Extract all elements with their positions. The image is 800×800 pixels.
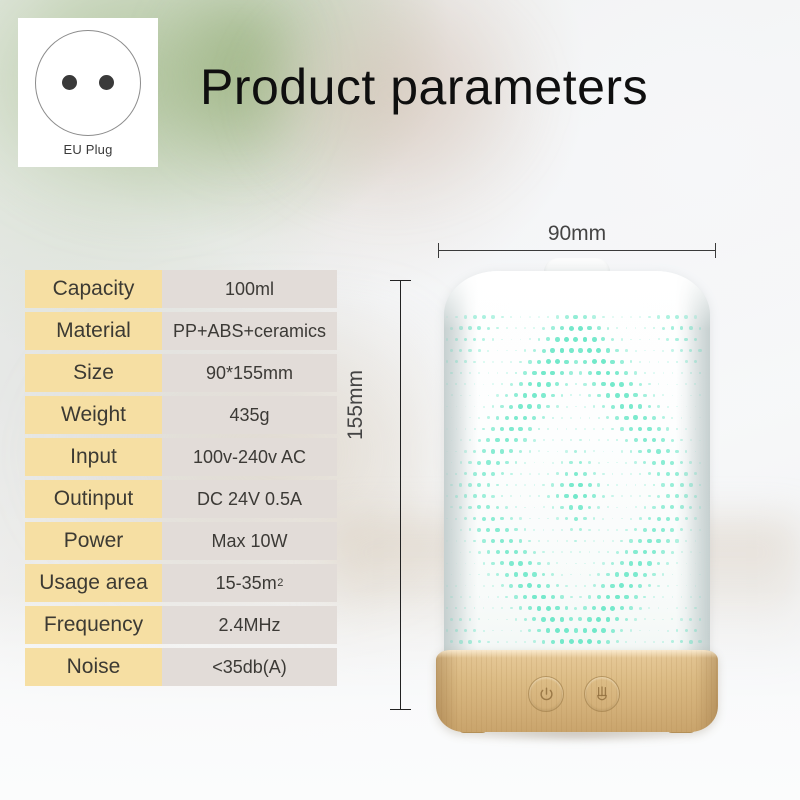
perforation-dot [620, 360, 624, 364]
perforation-dot [671, 439, 674, 442]
perforation-dot [574, 360, 578, 364]
height-tick-bottom-icon [390, 709, 411, 710]
perforation-dot [533, 551, 536, 554]
perforation-dot [542, 640, 546, 644]
perforation-dot [509, 427, 514, 432]
perforation-dot [524, 528, 527, 531]
perforation-dot [483, 630, 485, 632]
perforation-dot [621, 495, 623, 497]
perforation-dot [537, 629, 541, 633]
perforation-dot [478, 640, 481, 643]
perforation-dot [593, 517, 596, 520]
perforation-dot [601, 337, 605, 341]
perforation-dot [620, 427, 624, 431]
perforation-dot [487, 416, 490, 419]
perforation-dot [564, 494, 568, 498]
perforation-dot [478, 439, 481, 442]
perforation-dot [566, 540, 568, 542]
perforation-dot [511, 630, 513, 632]
spec-value: 435g [162, 396, 337, 434]
perforation-dot [541, 595, 546, 600]
perforation-dot [543, 462, 545, 464]
perforation-dot [607, 439, 609, 441]
perforation-dot [538, 518, 540, 520]
perforation-dot [597, 595, 601, 599]
spec-row: Weight435g [25, 396, 337, 434]
perforation-dot [492, 383, 494, 385]
perforation-dot [527, 404, 532, 409]
perforation-dot [542, 416, 545, 419]
perforation-dot [543, 439, 545, 441]
perforation-dot [603, 451, 605, 453]
perforation-dot [638, 539, 642, 543]
perforation-dot [615, 416, 619, 420]
perforation-dot [497, 619, 498, 620]
perforation-dot [564, 337, 569, 342]
perforation-dot [524, 484, 526, 486]
perforation-dot [533, 349, 536, 352]
perforation-dot [671, 417, 673, 419]
perforation-dot [672, 574, 674, 576]
perforation-dot [639, 607, 642, 610]
perforation-dot [619, 382, 624, 387]
perforation-dot [624, 572, 629, 577]
perforation-dot [560, 506, 563, 509]
perforation-dot [653, 619, 654, 620]
eu-plug-badge: EU Plug [18, 18, 158, 167]
perforation-dot [514, 416, 519, 421]
perforation-dot [647, 449, 651, 453]
perforation-dot [652, 550, 656, 554]
perforation-dot [661, 438, 665, 442]
perforation-dot [505, 550, 509, 554]
perforation-dot [624, 595, 628, 599]
perforation-dot [569, 348, 574, 353]
perforation-dot [500, 405, 503, 408]
perforation-dot [657, 585, 659, 587]
perforation-dot [606, 640, 610, 644]
perforation-dot [561, 439, 563, 441]
perforation-dot [648, 472, 651, 475]
perforation-dot [625, 439, 628, 442]
perforation-dot [579, 596, 581, 598]
perforation-dot [555, 382, 559, 386]
perforation-dot [569, 461, 572, 464]
perforation-dot [607, 506, 609, 508]
spec-row: Noise<35db(A) [25, 648, 337, 686]
perforation-dot [602, 473, 604, 475]
perforation-dot [606, 393, 610, 397]
perforation-dot [620, 606, 624, 610]
perforation-dot [570, 439, 572, 441]
perforation-dot [584, 428, 586, 430]
perforation-dot [528, 561, 532, 565]
perforation-dot [492, 338, 494, 340]
perforation-dot [671, 618, 673, 620]
perforation-dot [653, 596, 655, 598]
perforation-dot [621, 338, 623, 340]
perforation-dot [588, 371, 592, 375]
perforation-dot [529, 495, 531, 497]
perforation-dot [658, 361, 659, 362]
perforation-dot [649, 630, 650, 631]
perforation-dot [588, 595, 591, 598]
perforation-dot [509, 449, 513, 453]
power-button[interactable] [528, 676, 564, 712]
perforation-dot [611, 428, 614, 431]
perforation-dot [537, 382, 542, 387]
spec-row: Capacity100ml [25, 270, 337, 308]
perforation-dot [625, 462, 627, 464]
perforation-dot [603, 540, 605, 542]
spec-row: Size90*155mm [25, 354, 337, 392]
perforation-dot [478, 417, 480, 419]
perforation-dot [589, 417, 591, 419]
perforation-dot [496, 484, 499, 487]
perforation-dot [666, 338, 669, 341]
perforation-dot [657, 427, 661, 431]
perforation-dot [546, 405, 550, 409]
perforation-dot [630, 360, 633, 363]
perforation-dot [500, 517, 504, 521]
perforation-dot [597, 640, 601, 644]
perforation-dot [501, 607, 503, 609]
perforation-dot [505, 596, 508, 599]
perforation-dot [616, 462, 618, 464]
perforation-dot [589, 574, 591, 576]
perforation-dot [589, 439, 591, 441]
perforation-dot [561, 529, 563, 531]
spec-key: Outinput [25, 480, 162, 518]
perforation-dot [506, 484, 508, 486]
perforation-dot [509, 405, 513, 409]
perforation-dot [624, 416, 628, 420]
perforation-dot [648, 517, 652, 521]
perforation-dot [495, 528, 499, 532]
perforation-dot [543, 506, 545, 508]
perforation-dot [510, 495, 512, 497]
perforation-dot [529, 338, 531, 340]
perforation-dot [580, 417, 582, 419]
perforation-dot [672, 372, 674, 374]
perforation-dot [523, 416, 527, 420]
perforation-dot [616, 507, 618, 509]
perforation-dot [639, 339, 640, 340]
perforation-dot [552, 462, 554, 464]
perforation-dot [532, 572, 536, 576]
perforation-dot [658, 630, 660, 632]
perforation-dot [492, 630, 494, 632]
perforation-dot [652, 573, 655, 576]
spec-row: Input100v-240v AC [25, 438, 337, 476]
perforation-dot [583, 337, 588, 342]
perforation-dot [575, 428, 577, 430]
perforation-dot [556, 472, 559, 475]
spec-row: MaterialPP+ABS+ceramics [25, 312, 337, 350]
perforation-dot [643, 573, 647, 577]
perforation-dot [616, 439, 618, 441]
perforation-dot [505, 573, 509, 577]
perforation-dot [541, 371, 546, 376]
perforation-dot [570, 574, 572, 576]
perforation-dot [478, 574, 480, 576]
perforation-dot [574, 450, 577, 453]
perforation-dot [578, 505, 582, 509]
perforation-dot [478, 551, 481, 554]
perforation-dot [486, 528, 490, 532]
perforation-dot [649, 361, 651, 363]
perforation-dot [501, 584, 504, 587]
perforation-dot [560, 348, 565, 353]
perforation-dot [573, 494, 578, 499]
perforation-dot [584, 406, 586, 408]
perforation-dot [486, 438, 490, 442]
perforation-dot [479, 596, 480, 597]
perforation-dot [479, 395, 480, 396]
perforation-dot [570, 528, 573, 531]
spec-table: Capacity100mlMaterialPP+ABS+ceramicsSize… [25, 270, 337, 690]
perforation-dot [505, 438, 509, 442]
spec-value: 15-35m2 [162, 564, 337, 602]
perforation-dot [492, 607, 493, 608]
perforation-dot [662, 394, 664, 396]
perforation-dot [611, 629, 615, 633]
perforation-dot [519, 450, 522, 453]
perforation-dot [606, 595, 611, 600]
perforation-dot [629, 404, 634, 409]
perforation-dot [643, 528, 647, 532]
perforation-dot [584, 563, 586, 565]
perforation-dot [518, 427, 522, 431]
perforation-dot [667, 361, 669, 363]
perforation-dot [672, 596, 673, 597]
spec-key: Material [25, 312, 162, 350]
perforation-dot [501, 495, 503, 497]
perforation-dot [657, 562, 661, 566]
perforation-dot [647, 561, 651, 565]
perforation-dot [564, 360, 568, 364]
eu-plug-socket-icon [35, 30, 141, 136]
perforation-dot [578, 348, 583, 353]
perforation-dot [616, 640, 619, 643]
perforation-dot [661, 550, 665, 554]
perforation-dot [483, 607, 484, 608]
perforation-dot [638, 450, 642, 454]
perforation-dot [478, 618, 480, 620]
perforation-dot [492, 405, 495, 408]
perforation-dot [506, 350, 507, 351]
perforation-dot [626, 484, 628, 486]
perforation-dot [635, 350, 637, 352]
perforation-dot [546, 606, 551, 611]
perforation-dot [543, 529, 545, 531]
perforation-dot [635, 484, 637, 486]
perforation-dot [551, 573, 554, 576]
perforation-dot [624, 393, 629, 398]
perforation-dot [500, 539, 504, 543]
perforation-dot [515, 618, 517, 620]
perforation-dot [606, 348, 610, 352]
perforation-dot [634, 595, 638, 599]
spec-value: 90*155mm [162, 354, 337, 392]
perforation-dot [666, 449, 670, 453]
perforation-dot [483, 585, 485, 587]
perforation-dot [601, 359, 606, 364]
perforation-dot [574, 517, 578, 521]
perforation-dot [547, 495, 550, 498]
spec-value: Max 10W [162, 522, 337, 560]
perforation-dot [615, 371, 620, 376]
perforation-dot [657, 517, 661, 521]
perforation-dot [514, 528, 517, 531]
perforation-dot [579, 394, 581, 396]
perforation-dot [575, 585, 577, 587]
perforation-dot [506, 372, 508, 374]
perforation-dot [528, 540, 531, 543]
perforation-dot [630, 495, 632, 497]
perforation-dot [488, 372, 489, 373]
perforation-dot [601, 584, 605, 588]
perforation-dot [670, 505, 674, 509]
perforation-dot [578, 483, 583, 488]
perforation-dot [550, 348, 555, 353]
light-button[interactable] [584, 676, 620, 712]
perforation-dot [514, 550, 518, 554]
perforation-dot [621, 518, 623, 520]
height-dimension-line [400, 280, 401, 710]
perforation-dot [555, 628, 560, 633]
perforation-dot [488, 619, 490, 621]
perforation-dot [593, 450, 595, 452]
perforation-dot [547, 473, 549, 475]
perforated-dot-pattern [444, 313, 710, 671]
perforation-dot [610, 584, 614, 588]
perforation-dot [643, 550, 648, 555]
perforation-dot [638, 404, 642, 408]
perforation-dot [653, 394, 656, 397]
perforation-dot [602, 428, 604, 430]
perforation-dot [486, 460, 490, 464]
perforation-dot [483, 562, 485, 564]
perforation-dot [661, 528, 665, 532]
spec-value: <35db(A) [162, 648, 337, 686]
perforation-dot [633, 393, 637, 397]
perforation-dot [514, 595, 518, 599]
perforation-dot [644, 484, 646, 486]
perforation-dot [657, 495, 660, 498]
spec-value: 2.4MHz [162, 606, 337, 644]
perforation-dot [565, 383, 568, 386]
perforation-dot [634, 461, 637, 464]
perforation-dot [556, 562, 558, 564]
perforation-dot [529, 450, 531, 452]
perforation-dot [483, 361, 485, 363]
perforation-dot [556, 494, 560, 498]
perforation-dot [662, 619, 663, 620]
wooden-base [436, 650, 718, 732]
perforation-dot [487, 550, 490, 553]
perforation-dot [639, 517, 642, 520]
perforation-dot [561, 394, 564, 397]
spec-row: OutinputDC 24V 0.5A [25, 480, 337, 518]
perforation-dot [532, 393, 537, 398]
perforation-dot [625, 641, 627, 643]
perforation-dot [574, 472, 578, 476]
width-tick-right-icon [715, 243, 716, 258]
perforation-dot [602, 562, 604, 564]
perforation-dot [556, 405, 559, 408]
spec-key: Weight [25, 396, 162, 434]
perforation-dot [575, 563, 577, 565]
perforation-dot [533, 529, 535, 531]
perforation-dot [643, 461, 646, 464]
perforation-dot [588, 394, 591, 397]
perforation-dot [593, 562, 595, 564]
perforation-dot [528, 606, 532, 610]
product-parameters-banner: EU Plug Product parameters Capacity100ml… [0, 0, 800, 800]
perforation-dot [607, 551, 609, 553]
perforation-dot [635, 506, 637, 508]
perforation-dot [574, 607, 577, 610]
perforation-dot [569, 483, 574, 488]
height-dimension-label: 155mm [344, 370, 368, 440]
perforation-dot [611, 405, 615, 409]
perforation-dot [596, 617, 601, 622]
perforation-dot [527, 583, 532, 588]
perforation-dot [634, 371, 637, 374]
perforation-dot [520, 630, 522, 632]
perforation-dot [670, 483, 674, 487]
perforation-dot [570, 596, 573, 599]
perforation-dot [667, 630, 669, 632]
perforation-dot [518, 404, 523, 409]
perforation-dot [638, 561, 643, 566]
perforation-dot [639, 383, 642, 386]
perforation-dot [557, 451, 559, 453]
perforation-dot [584, 450, 587, 453]
perforation-dot [510, 473, 513, 476]
perforation-dot [523, 572, 528, 577]
perforation-dot [639, 473, 641, 475]
perforation-dot [671, 640, 674, 643]
perforation-dot [593, 405, 595, 407]
perforation-dot [643, 438, 647, 442]
perforation-dot [496, 550, 500, 554]
perforation-dot [592, 337, 597, 342]
perforation-dot [509, 561, 514, 566]
perforation-dot [519, 361, 522, 364]
perforation-dot [578, 639, 583, 644]
perforation-dot [575, 383, 577, 385]
base-top-rim [436, 650, 718, 658]
perforation-dot [523, 371, 527, 375]
perforation-dot [658, 383, 660, 385]
perforation-dot [510, 607, 513, 610]
perforation-dot [505, 394, 508, 397]
perforation-dot [519, 606, 522, 609]
perforation-dot [506, 619, 508, 621]
perforation-dot [588, 483, 592, 487]
perforation-dot [501, 383, 503, 385]
perforation-dot [625, 349, 628, 352]
perforation-dot [560, 371, 564, 375]
perforation-dot [666, 562, 669, 565]
perforation-dot [501, 472, 504, 475]
perforation-dot [624, 371, 628, 375]
perforation-dot [644, 506, 647, 509]
perforation-dot [598, 439, 600, 441]
perforation-dot [496, 573, 499, 576]
